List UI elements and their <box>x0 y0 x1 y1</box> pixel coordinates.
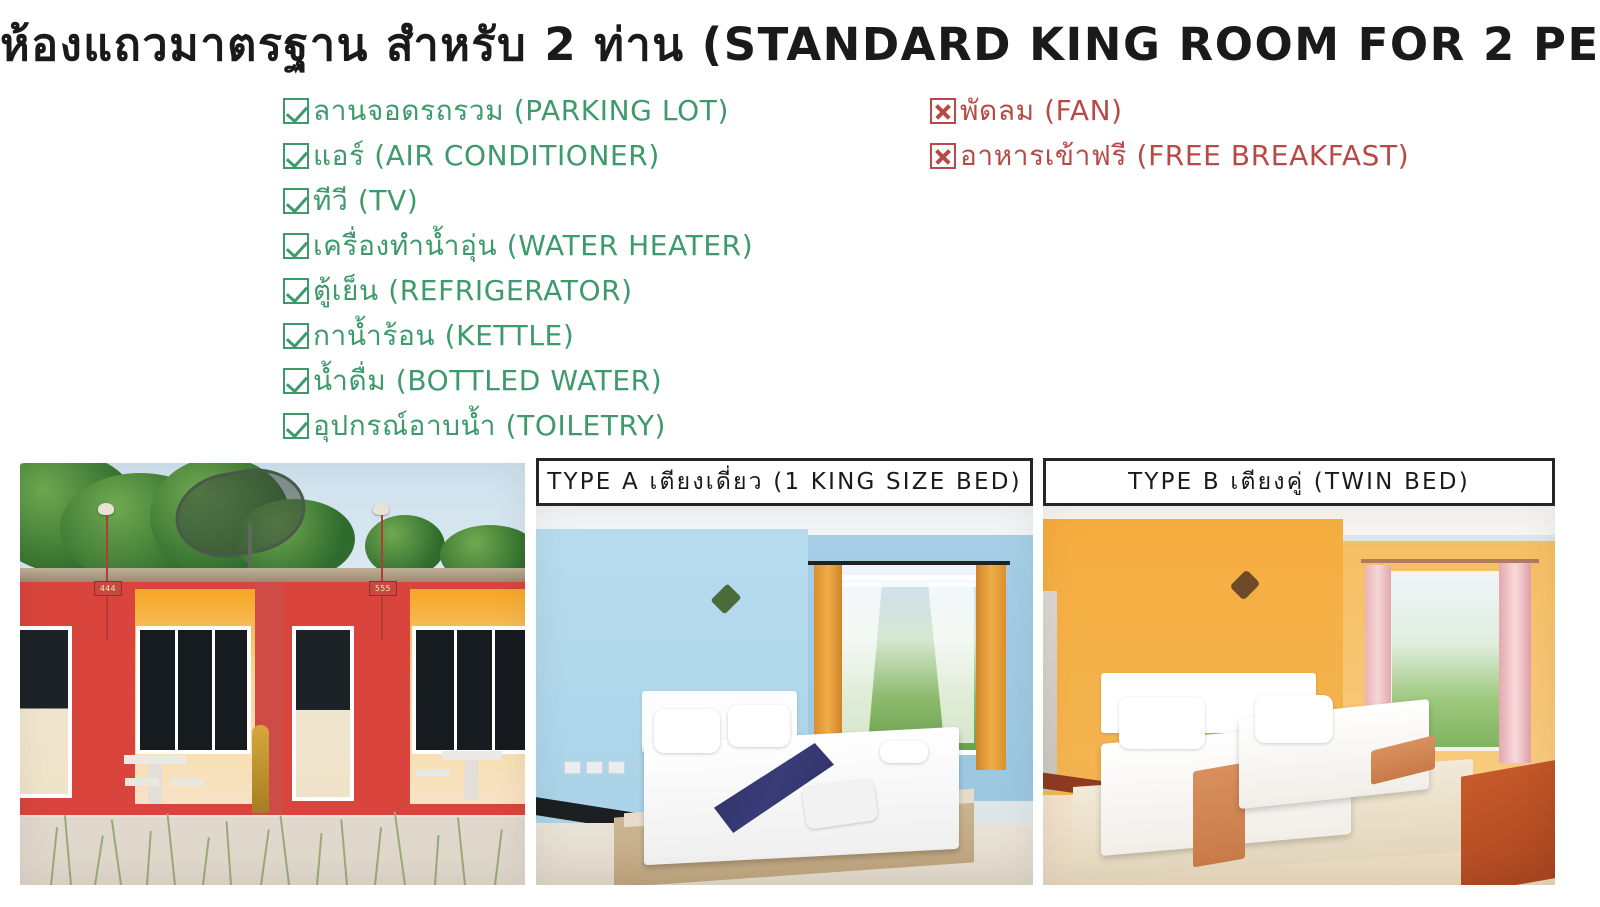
bed-runner <box>1193 762 1245 867</box>
checkbox-checked-icon <box>283 143 309 169</box>
pillow <box>1119 697 1205 749</box>
folded-towel <box>880 741 928 763</box>
light-switch <box>564 761 581 774</box>
room-window <box>136 626 251 754</box>
stone-table <box>442 751 502 760</box>
golden-statue <box>252 725 269 813</box>
type-a-caption-box: TYPE A เตียงเดี่ยว (1 KING SIZE BED) <box>536 458 1033 506</box>
curtain-right <box>1499 563 1531 763</box>
list-item: ตู้เย็น (REFRIGERATOR) <box>283 268 753 313</box>
checkbox-checked-icon <box>283 368 309 394</box>
room-number-badge: 444 <box>94 581 122 596</box>
list-item: กาน้ำร้อน (KETTLE) <box>283 313 753 358</box>
list-item: พัดลม (FAN) <box>930 88 1409 133</box>
room-door <box>20 626 72 798</box>
pillow <box>728 705 790 747</box>
checkbox-checked-icon <box>283 233 309 259</box>
power-outlet <box>586 761 603 774</box>
type-a-caption-text: TYPE A เตียงเดี่ยว (1 KING SIZE BED) <box>547 464 1022 500</box>
wall-lamp-icon <box>98 503 114 515</box>
stone-stool <box>416 769 450 777</box>
checkbox-crossed-icon <box>930 98 956 124</box>
list-item: แอร์ (AIR CONDITIONER) <box>283 133 753 178</box>
amenity-label: น้ำดื่ม (BOTTLED WATER) <box>313 359 662 403</box>
room-number-badge: 555 <box>369 581 397 596</box>
stone-table <box>124 755 186 764</box>
list-item: น้ำดื่ม (BOTTLED WATER) <box>283 358 753 403</box>
amenity-label: พัดลม (FAN) <box>960 89 1123 133</box>
excluded-amenities-list: พัดลม (FAN) อาหารเข้าฟรี (FREE BREAKFAST… <box>930 88 1409 178</box>
room-door <box>292 626 354 801</box>
list-item: เครื่องทำน้ำอุ่น (WATER HEATER) <box>283 223 753 268</box>
amenity-label: อาหารเข้าฟรี (FREE BREAKFAST) <box>960 134 1409 178</box>
checkbox-checked-icon <box>283 188 309 214</box>
amenity-label: ตู้เย็น (REFRIGERATOR) <box>313 269 633 313</box>
room-window <box>412 626 525 754</box>
list-item: ลานจอดรถรวม (PARKING LOT) <box>283 88 753 133</box>
amenity-label: เครื่องทำน้ำอุ่น (WATER HEATER) <box>313 224 753 268</box>
curtain-valance <box>832 565 984 587</box>
amenity-label: ทีวี (TV) <box>313 179 418 223</box>
type-b-room-photo <box>1043 505 1555 885</box>
list-item: ทีวี (TV) <box>283 178 753 223</box>
type-a-room-photo <box>536 505 1033 885</box>
checkbox-checked-icon <box>283 413 309 439</box>
stone-stool <box>125 778 159 786</box>
included-amenities-list: ลานจอดรถรวม (PARKING LOT) แอร์ (AIR COND… <box>283 88 753 448</box>
pillow <box>654 709 720 753</box>
checkbox-checked-icon <box>283 98 309 124</box>
type-b-caption-text: TYPE B เตียงคู่ (TWIN BED) <box>1128 464 1470 500</box>
room-info-poster: ห้องแถวมาตรฐาน สำหรับ 2 ท่าน (STANDARD K… <box>0 0 1600 907</box>
conduit <box>381 515 383 641</box>
curtain-right <box>976 565 1006 770</box>
conduit <box>106 515 108 641</box>
stone-table-leg <box>464 760 478 800</box>
type-b-caption-box: TYPE B เตียงคู่ (TWIN BED) <box>1043 458 1555 506</box>
amenity-label: ลานจอดรถรวม (PARKING LOT) <box>313 89 729 133</box>
roof-edge <box>20 568 525 582</box>
checkbox-checked-icon <box>283 323 309 349</box>
amenity-label: อุปกรณ์อาบน้ำ (TOILETRY) <box>313 404 666 448</box>
page-title: ห้องแถวมาตรฐาน สำหรับ 2 ท่าน (STANDARD K… <box>0 8 1600 80</box>
wall-lamp-icon <box>373 503 389 515</box>
exterior-bungalow-photo: 444 555 <box>20 463 525 885</box>
checkbox-checked-icon <box>283 278 309 304</box>
pillow <box>1255 695 1333 743</box>
amenity-label: กาน้ำร้อน (KETTLE) <box>313 314 574 358</box>
amenity-label: แอร์ (AIR CONDITIONER) <box>313 134 660 178</box>
list-item: อาหารเข้าฟรี (FREE BREAKFAST) <box>930 133 1409 178</box>
stone-stool <box>170 778 204 786</box>
wooden-dresser <box>1461 757 1555 885</box>
list-item: อุปกรณ์อาบน้ำ (TOILETRY) <box>283 403 753 448</box>
room-door <box>1043 591 1057 791</box>
checkbox-crossed-icon <box>930 143 956 169</box>
power-outlet <box>608 761 625 774</box>
